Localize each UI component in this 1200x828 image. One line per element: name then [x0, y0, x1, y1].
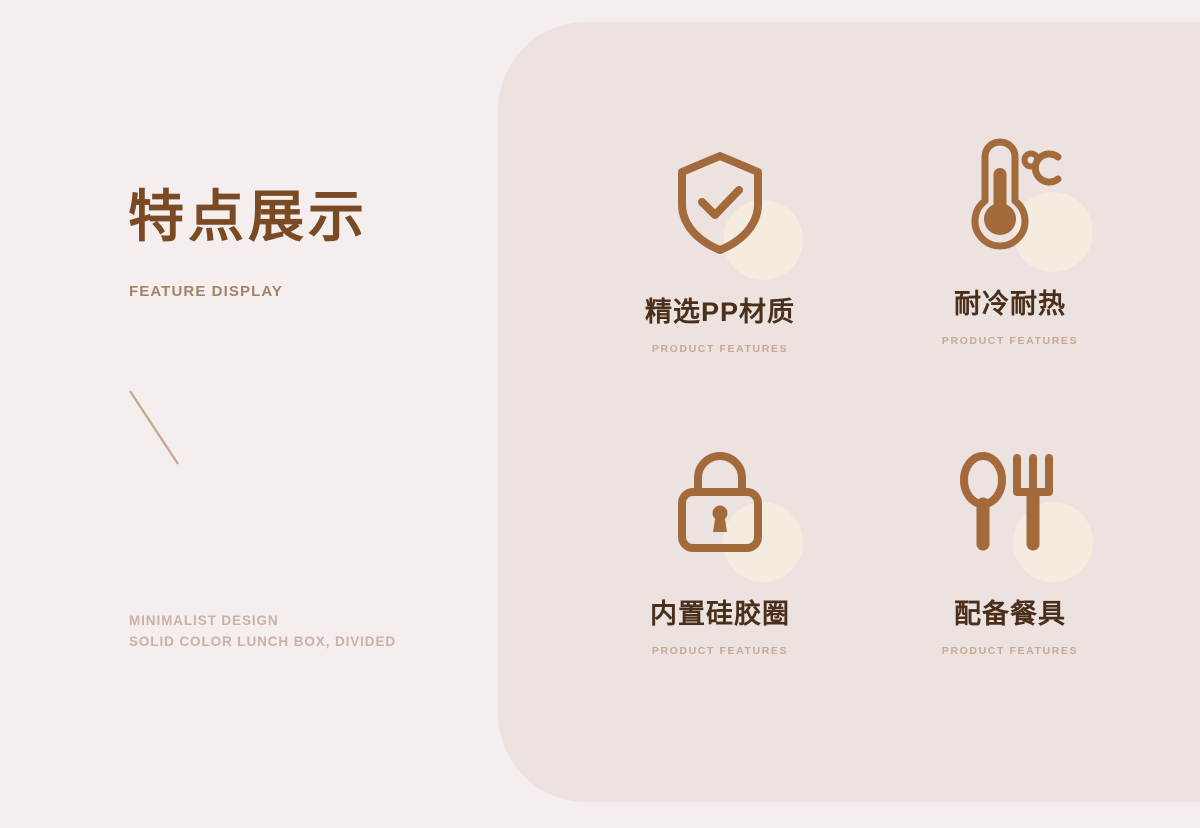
icon-container — [935, 430, 1085, 580]
diagonal-accent-line — [125, 385, 185, 470]
feature-subtitle: PRODUCT FEATURES — [652, 343, 788, 355]
spoon-fork-icon — [955, 450, 1065, 560]
feature-item-temperature-resistant[interactable]: 耐冷耐热 PRODUCT FEATURES — [865, 120, 1155, 420]
shield-check-icon — [670, 148, 770, 258]
footnote: MINIMALIST DESIGN SOLID COLOR LUNCH BOX,… — [129, 610, 396, 652]
padlock-icon — [670, 450, 770, 560]
icon-container — [645, 430, 795, 580]
feature-subtitle: PRODUCT FEATURES — [652, 645, 788, 657]
feature-subtitle: PRODUCT FEATURES — [942, 335, 1078, 347]
thermometer-celsius-icon — [955, 135, 1065, 255]
icon-container — [935, 120, 1085, 270]
feature-title: 配备餐具 — [954, 592, 1066, 631]
page-subtitle: FEATURE DISPLAY — [129, 283, 283, 300]
footnote-line-1: MINIMALIST DESIGN — [129, 610, 396, 631]
feature-title: 耐冷耐热 — [954, 282, 1066, 321]
feature-item-silicone-ring[interactable]: 内置硅胶圈 PRODUCT FEATURES — [575, 420, 865, 720]
poster-canvas: 特点展示 FEATURE DISPLAY MINIMALIST DESIGN S… — [0, 0, 1200, 828]
feature-title: 内置硅胶圈 — [650, 592, 790, 631]
left-column: 特点展示 FEATURE DISPLAY MINIMALIST DESIGN S… — [0, 0, 498, 828]
feature-grid: 精选PP材质 PRODUCT FEATURES — [575, 120, 1155, 720]
feature-subtitle: PRODUCT FEATURES — [942, 645, 1078, 657]
icon-container — [645, 128, 795, 278]
feature-title: 精选PP材质 — [645, 290, 795, 329]
footnote-line-2: SOLID COLOR LUNCH BOX, DIVIDED — [129, 631, 396, 652]
feature-item-cutlery-included[interactable]: 配备餐具 PRODUCT FEATURES — [865, 420, 1155, 720]
page-title: 特点展示 — [128, 186, 368, 248]
feature-item-pp-material[interactable]: 精选PP材质 PRODUCT FEATURES — [575, 120, 865, 420]
